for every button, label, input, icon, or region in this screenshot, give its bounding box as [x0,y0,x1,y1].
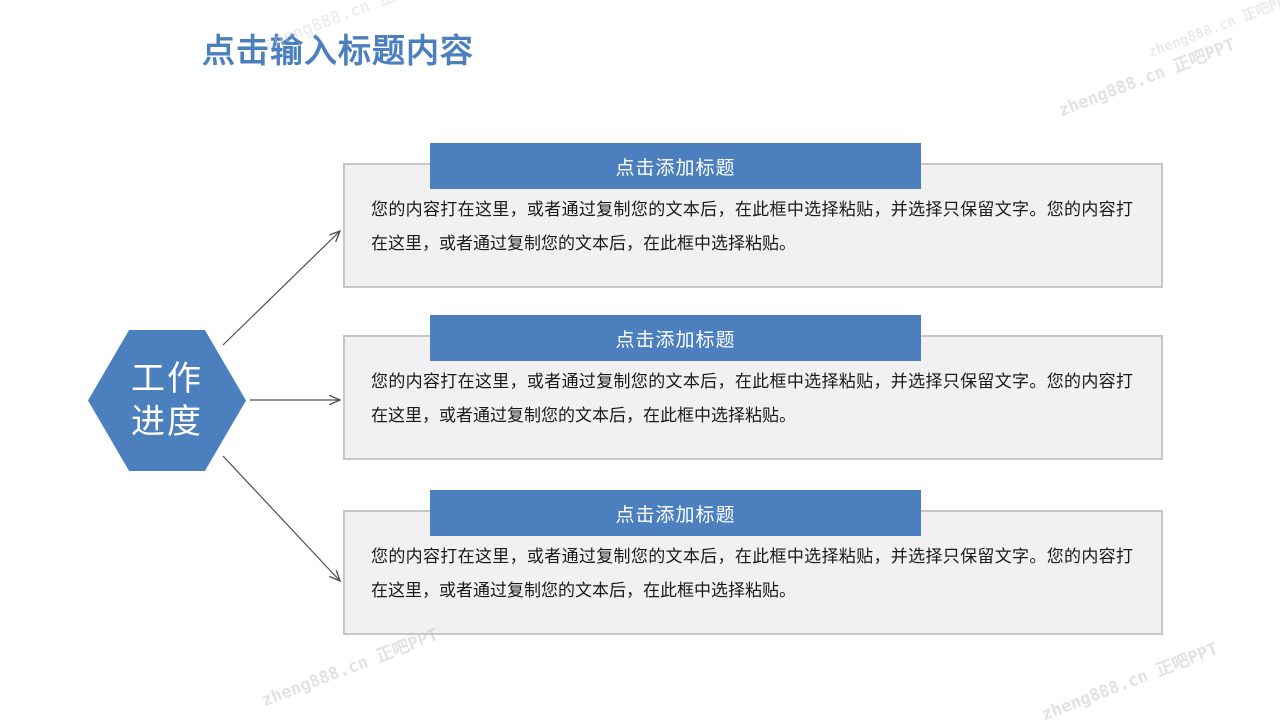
watermark: zheng888.cn 正吧PPT [1054,30,1238,121]
item-body-text: 您的内容打在这里，或者通过复制您的文本后，在此框中选择粘贴，并选择只保留文字。您… [371,540,1133,608]
item-body-text: 您的内容打在这里，或者通过复制您的文本后，在此框中选择粘贴，并选择只保留文字。您… [371,365,1133,433]
item-header-bar[interactable]: 点击添加标题 [430,490,921,536]
content-item: 您的内容打在这里，或者通过复制您的文本后，在此框中选择粘贴，并选择只保留文字。您… [343,490,1163,635]
arrow-to-item-3 [223,456,340,581]
hexagon-label-line1: 工作 [131,358,203,401]
hexagon-badge[interactable]: 工作 进度 [88,330,246,471]
page-title: 点击输入标题内容 [202,24,474,72]
watermark: zheng888.cn 正吧PPT [1145,0,1280,62]
item-header-label: 点击添加标题 [615,500,735,527]
watermark: zheng888.cn 正吧PPT [1037,634,1221,720]
content-item: 您的内容打在这里，或者通过复制您的文本后，在此框中选择粘贴，并选择只保留文字。您… [343,143,1163,288]
hexagon-label: 工作 进度 [88,330,246,471]
item-header-label: 点击添加标题 [615,153,735,180]
item-body-text: 您的内容打在这里，或者通过复制您的文本后，在此框中选择粘贴，并选择只保留文字。您… [371,193,1133,261]
slide-canvas: 点击输入标题内容 工作 进度 您的内容打在这里，或者通过复制您的文本后，在此框中… [0,0,1280,720]
item-header-label: 点击添加标题 [615,325,735,352]
arrow-to-item-1 [223,231,340,345]
content-item: 您的内容打在这里，或者通过复制您的文本后，在此框中选择粘贴，并选择只保留文字。您… [343,315,1163,460]
item-header-bar[interactable]: 点击添加标题 [430,315,921,361]
hexagon-label-line2: 进度 [131,401,203,444]
item-header-bar[interactable]: 点击添加标题 [430,143,921,189]
